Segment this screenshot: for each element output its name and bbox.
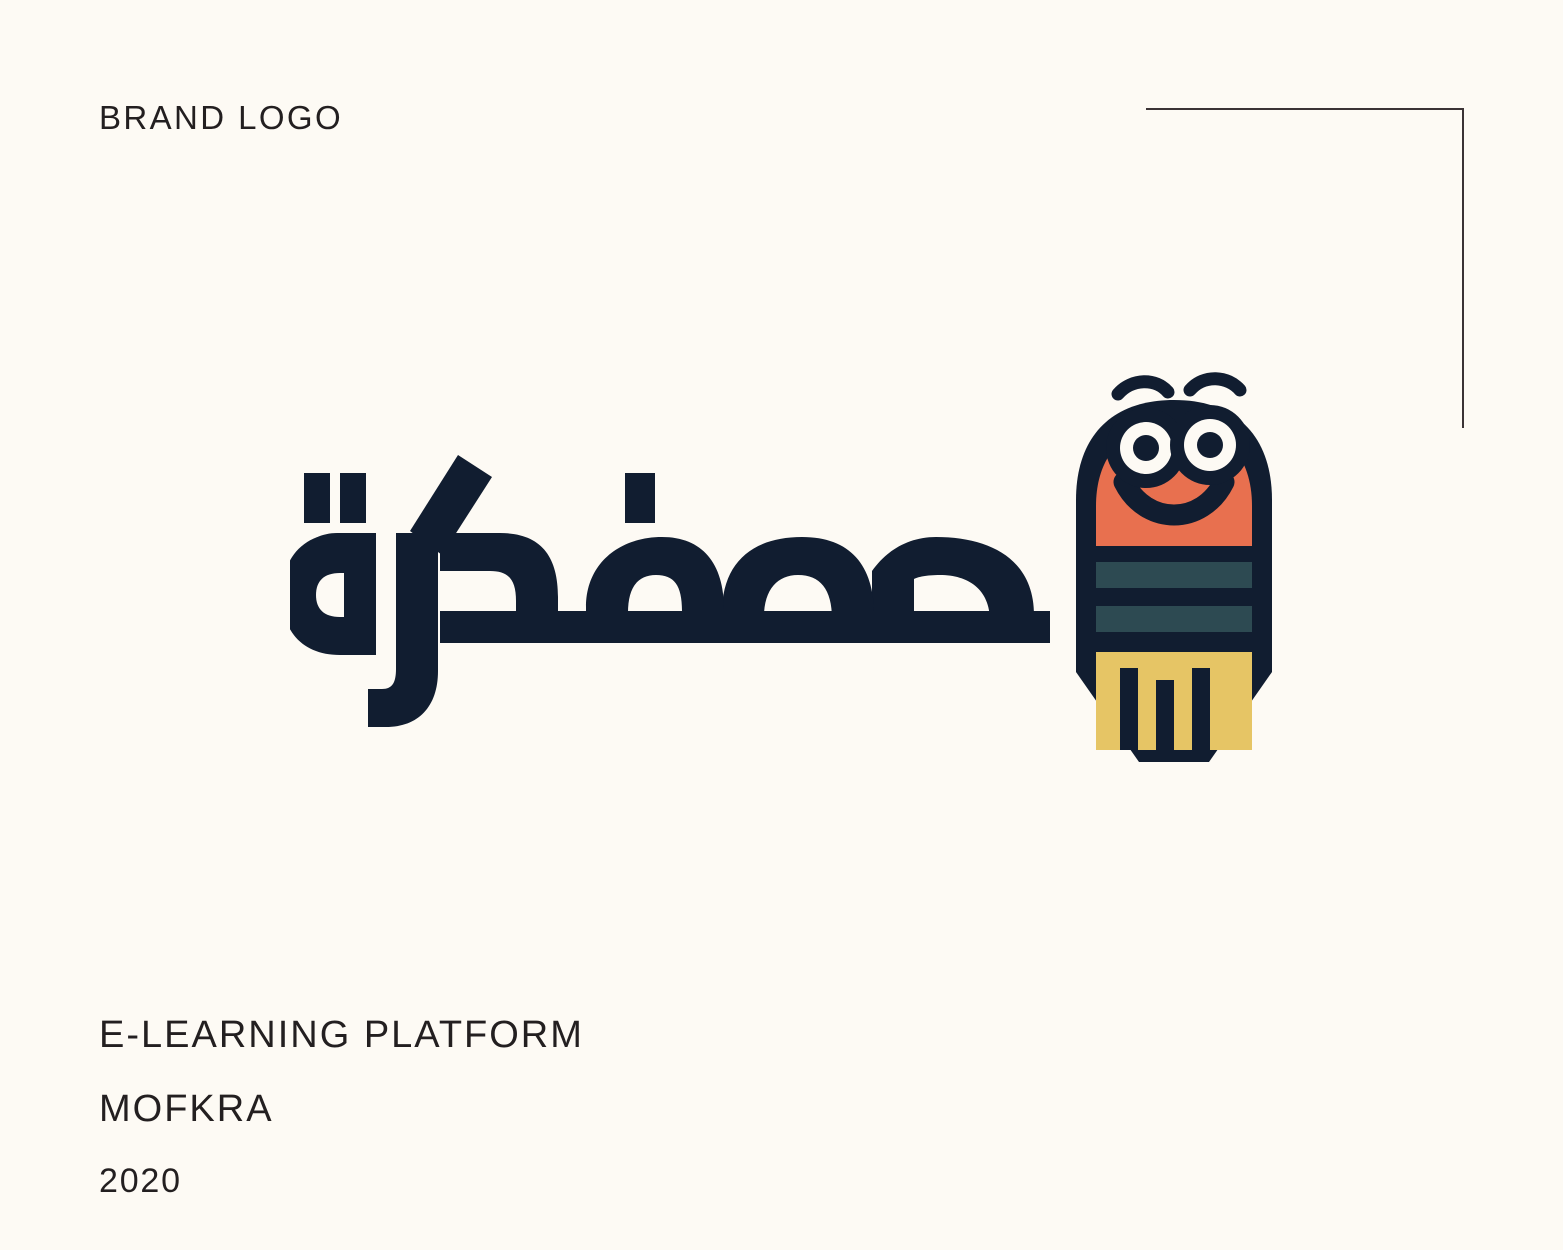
- caption-block: E-LEARNING PLATFORM MOFKRA 2020: [99, 1016, 584, 1198]
- right-eyebrow-icon: [1190, 379, 1240, 390]
- barrel-m-notch-1: [1120, 668, 1138, 750]
- ferrule-band-bottom: [1096, 606, 1252, 632]
- caption-platform: E-LEARNING PLATFORM: [99, 1016, 584, 1054]
- barrel-m-notch-2: [1156, 680, 1174, 750]
- right-eye-pupil: [1197, 432, 1223, 458]
- arabic-wordmark-svg: [290, 455, 1050, 755]
- pencil-mascot-svg: [1062, 360, 1286, 800]
- caption-year: 2020: [99, 1164, 584, 1198]
- taa-marbuta-dot-left: [304, 473, 330, 523]
- wordmark-glyphs: [290, 455, 1050, 727]
- arabic-wordmark: [290, 455, 1050, 755]
- baseline-stroke: [440, 611, 1050, 643]
- taa-marbuta-dot-right: [340, 473, 366, 523]
- barrel-section: [1096, 652, 1252, 750]
- brand-logo-label: BRAND LOGO: [99, 101, 343, 134]
- corner-bracket-horizontal-line: [1146, 108, 1464, 110]
- pencil-mascot: [1062, 360, 1286, 800]
- logo-lockup: [0, 350, 1563, 810]
- ferrule-band-top: [1096, 562, 1252, 588]
- pencil-wood-tip: [1096, 762, 1252, 800]
- left-eyebrow-icon: [1118, 382, 1168, 394]
- barrel-m-notch-3: [1192, 668, 1210, 750]
- caption-brand-name: MOFKRA: [99, 1090, 584, 1128]
- presentation-canvas: BRAND LOGO: [0, 0, 1563, 1250]
- feh-dot: [625, 473, 655, 523]
- left-eye-pupil: [1133, 435, 1159, 461]
